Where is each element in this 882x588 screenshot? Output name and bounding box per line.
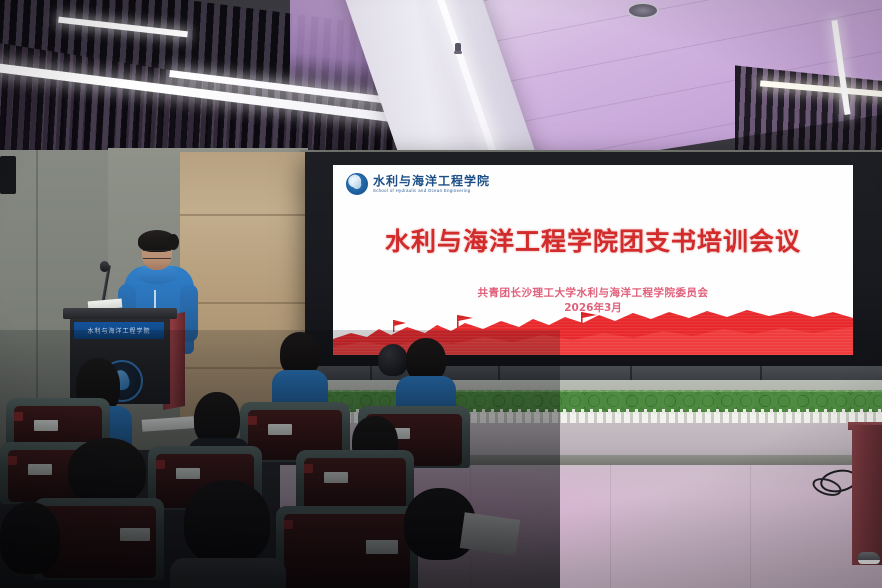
presenter-glasses-icon xyxy=(143,250,171,259)
seat-number-tag xyxy=(156,460,165,469)
attendee-head xyxy=(184,480,270,564)
seat-label xyxy=(324,472,348,483)
slide-logo-chinese-name: 水利与海洋工程学院 xyxy=(373,175,490,187)
seat-number-tag xyxy=(8,456,17,465)
attendee-head xyxy=(0,502,60,574)
school-crest-icon xyxy=(346,173,368,195)
attendee xyxy=(272,332,326,412)
sprinkler-head-icon xyxy=(455,43,461,52)
seat-label xyxy=(176,468,200,479)
seat-label xyxy=(120,528,150,541)
attendee-body xyxy=(170,558,286,588)
slide-logo-english-name: School of Hydraulic and Ocean Engineerin… xyxy=(373,189,490,193)
seat-label xyxy=(34,420,58,431)
seat[interactable] xyxy=(276,506,418,588)
microphone-icon xyxy=(100,261,109,272)
auditorium-photo: 水利与海洋工程学院 School of Hydraulic and Ocean … xyxy=(0,0,882,588)
slide-title: 水利与海洋工程学院团支书培训会议 xyxy=(333,222,853,258)
handout-paper xyxy=(142,416,195,432)
presenter-hair xyxy=(138,230,176,252)
side-podium xyxy=(852,425,882,565)
attendee-head xyxy=(68,438,146,504)
attendee xyxy=(0,502,68,588)
shoe xyxy=(858,552,880,564)
ceiling xyxy=(0,0,882,170)
seat-number-tag xyxy=(284,520,293,529)
seat-number-tag xyxy=(14,412,23,421)
presentation-slide: 水利与海洋工程学院 School of Hydraulic and Ocean … xyxy=(333,165,853,355)
led-screen[interactable]: 水利与海洋工程学院 School of Hydraulic and Ocean … xyxy=(333,165,853,355)
seat-label xyxy=(28,464,52,475)
audience-area xyxy=(0,330,560,588)
slide-logo: 水利与海洋工程学院 School of Hydraulic and Ocean … xyxy=(346,173,490,195)
slide-subtitle-organization: 共青团长沙理工大学水利与海洋工程学院委员会 xyxy=(333,285,853,300)
seat-number-tag xyxy=(304,464,313,473)
handout-paper xyxy=(460,512,520,555)
attendee xyxy=(180,480,280,588)
seat-label xyxy=(366,540,398,554)
ceiling-downlight-icon xyxy=(627,2,659,19)
seat-label xyxy=(268,424,292,435)
wall-display-panel xyxy=(0,156,16,194)
seat-number-tag xyxy=(248,416,257,425)
podium-desktop xyxy=(63,308,177,319)
